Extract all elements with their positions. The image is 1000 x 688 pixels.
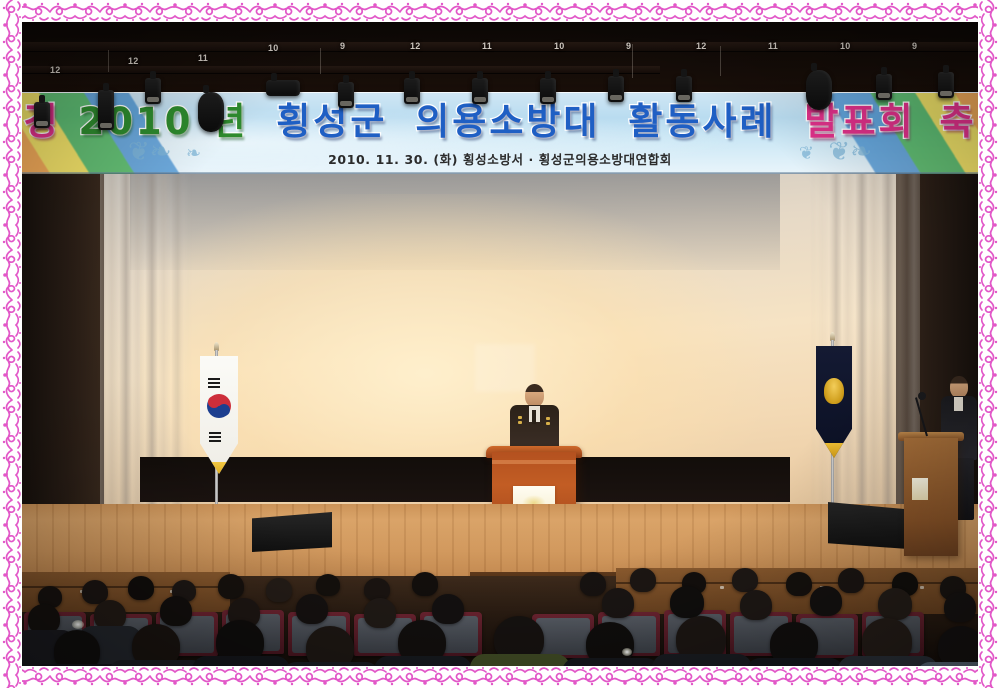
audience-head [786, 572, 812, 596]
rigging-wire [320, 48, 321, 74]
flag-cloth [816, 346, 852, 458]
camera-flash [72, 620, 84, 629]
framed-event-photo: 12 12 11 10 9 12 11 10 9 12 11 10 9 [0, 0, 1000, 688]
audience-shoulders [916, 662, 980, 668]
stage-light [404, 78, 420, 104]
rigging-wire [720, 46, 721, 76]
stage-light [472, 78, 488, 104]
trigram [208, 382, 220, 384]
host-head [950, 376, 968, 398]
trigram [209, 432, 221, 434]
trigram [209, 440, 221, 442]
trigram [208, 386, 220, 388]
flag-cloth [200, 356, 238, 474]
audience-head [580, 572, 606, 596]
uniform-insignia [518, 421, 522, 424]
banner-title-segment: 의용소방대 [414, 97, 601, 147]
auditorium-ceiling [20, 20, 980, 96]
stage-wing-left [20, 174, 104, 504]
rigging-wire [632, 44, 633, 78]
stage-light [198, 92, 224, 132]
audience-head [630, 568, 656, 592]
banner-subtitle: 2010. 11. 30. (화) 횡성소방서 · 횡성군의용소방대연합회 [20, 149, 980, 168]
audience-shoulders [746, 658, 844, 668]
microphone-head [918, 392, 926, 400]
audience-head [670, 586, 704, 618]
side-lectern [904, 438, 958, 556]
fire-brigade-organization-flag [802, 332, 862, 532]
truss-number: 11 [768, 41, 778, 51]
photo-border-right [978, 0, 1000, 688]
audience-head [364, 598, 396, 628]
audience-head [602, 588, 634, 618]
audience-head [838, 568, 864, 593]
audience-head [160, 596, 192, 626]
photo-border-bottom [0, 666, 1000, 688]
audience-shoulders [652, 654, 752, 668]
truss-number: 12 [50, 65, 61, 75]
audience-head [296, 594, 328, 624]
taeguk-symbol [207, 394, 231, 418]
event-banner: ❦❧ ❧ ❦❧ ❦ 경 2010 년 횡성군 의용소방대 활동사례 발표회 축 … [20, 92, 980, 175]
uniform-insignia [546, 422, 550, 425]
flag-fringe [816, 443, 852, 461]
truss-number: 10 [268, 43, 279, 53]
audience-head [944, 592, 976, 622]
audience-shoulders [192, 656, 290, 668]
truss-number: 12 [128, 56, 139, 66]
truss-number: 9 [626, 41, 631, 51]
truss-number: 12 [410, 41, 421, 51]
banner-title-segment: 횡성군 [275, 97, 388, 147]
stage-light [266, 80, 300, 96]
audience-shoulders [374, 656, 472, 668]
stage-light [806, 70, 832, 110]
stage-light [338, 82, 354, 108]
truss-number: 11 [198, 53, 208, 63]
trigram [209, 436, 221, 438]
lighting-truss-rear [20, 42, 980, 51]
truss-number: 10 [554, 41, 565, 51]
banner-title-segment: 축 [938, 97, 977, 147]
truss-number: 10 [840, 41, 851, 51]
truss-number: 12 [696, 41, 707, 51]
stage-light [676, 76, 692, 102]
photo-border-left [0, 0, 22, 688]
brigade-emblem [824, 378, 844, 404]
audience-head [128, 576, 154, 600]
audience-shoulders [282, 662, 380, 668]
photo-scene: 12 12 11 10 9 12 11 10 9 12 11 10 9 [20, 20, 980, 668]
speaker-necktie [532, 410, 536, 424]
stage-light [938, 72, 954, 98]
banner-title-segment: 활동사례 [627, 97, 777, 147]
lectern-plaque [912, 478, 928, 500]
audience-head [316, 574, 340, 596]
audience-head [432, 594, 464, 624]
banner-title-segment: 2010 [77, 97, 194, 147]
stage-light [145, 78, 161, 104]
audience-shoulders [562, 658, 660, 668]
audience-head [732, 568, 758, 592]
audience-head [266, 578, 292, 602]
camera-flash [622, 648, 632, 656]
stage-monitor-wedge [252, 512, 332, 552]
lighting-truss-front [20, 66, 660, 73]
banner-title: 경 2010 년 횡성군 의용소방대 활동사례 발표회 축 [20, 97, 980, 147]
audience-head [218, 574, 244, 599]
truss-number: 11 [482, 41, 492, 51]
audience-head [412, 572, 438, 596]
stage-curtain-left [100, 174, 192, 504]
rigging-wire [108, 50, 109, 72]
podium-trim [492, 460, 576, 464]
truss-number: 9 [340, 41, 345, 51]
audience-head [740, 590, 772, 620]
wall-fixture [720, 586, 724, 589]
audience-shoulders [470, 654, 570, 668]
flag-fringe [200, 462, 238, 476]
uniform-insignia [518, 416, 522, 419]
trigram [208, 378, 220, 380]
stage-light [608, 76, 624, 102]
truss-number: 9 [912, 41, 917, 51]
audience-head [54, 630, 100, 668]
wall-fixture [920, 586, 924, 589]
audience-head [878, 588, 912, 620]
stage-light [540, 78, 556, 104]
host-shirt [954, 397, 963, 411]
stage-light [34, 102, 50, 128]
stage-light [98, 90, 114, 130]
speaker-head [525, 384, 544, 407]
uniform-insignia [546, 417, 550, 420]
photo-border-top [0, 0, 1000, 22]
audience-head [810, 586, 842, 616]
stage-light [876, 74, 892, 100]
